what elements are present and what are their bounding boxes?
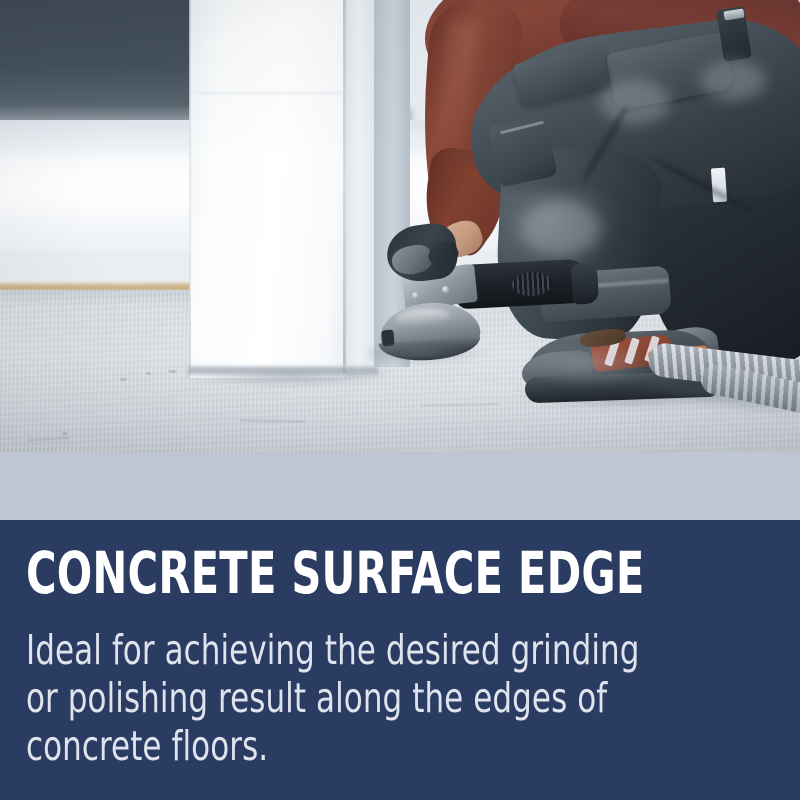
grinder-rear-cap	[571, 263, 599, 304]
worker-figure	[0, 0, 800, 452]
caption-panel: CONCRETE SURFACE EDGE Ideal for achievin…	[0, 520, 800, 800]
grinder-bolt	[442, 286, 449, 293]
trouser-dust-splotch	[600, 80, 670, 124]
shroud-clip	[381, 329, 395, 346]
worker-grinding-concrete-edge-photo	[0, 0, 800, 452]
trouser-dust-splotch	[700, 60, 766, 100]
separator-band	[0, 452, 800, 520]
caption-description: Ideal for achieving the desired grinding…	[26, 626, 654, 770]
grinder-bolt	[412, 292, 419, 299]
grinding-dust-cloud	[368, 346, 488, 364]
shoe-dust	[530, 344, 660, 384]
page-title: CONCRETE SURFACE EDGE	[26, 544, 624, 604]
product-feature-card: CONCRETE SURFACE EDGE Ideal for achievin…	[0, 0, 800, 800]
trouser-dust-splotch	[520, 200, 600, 256]
